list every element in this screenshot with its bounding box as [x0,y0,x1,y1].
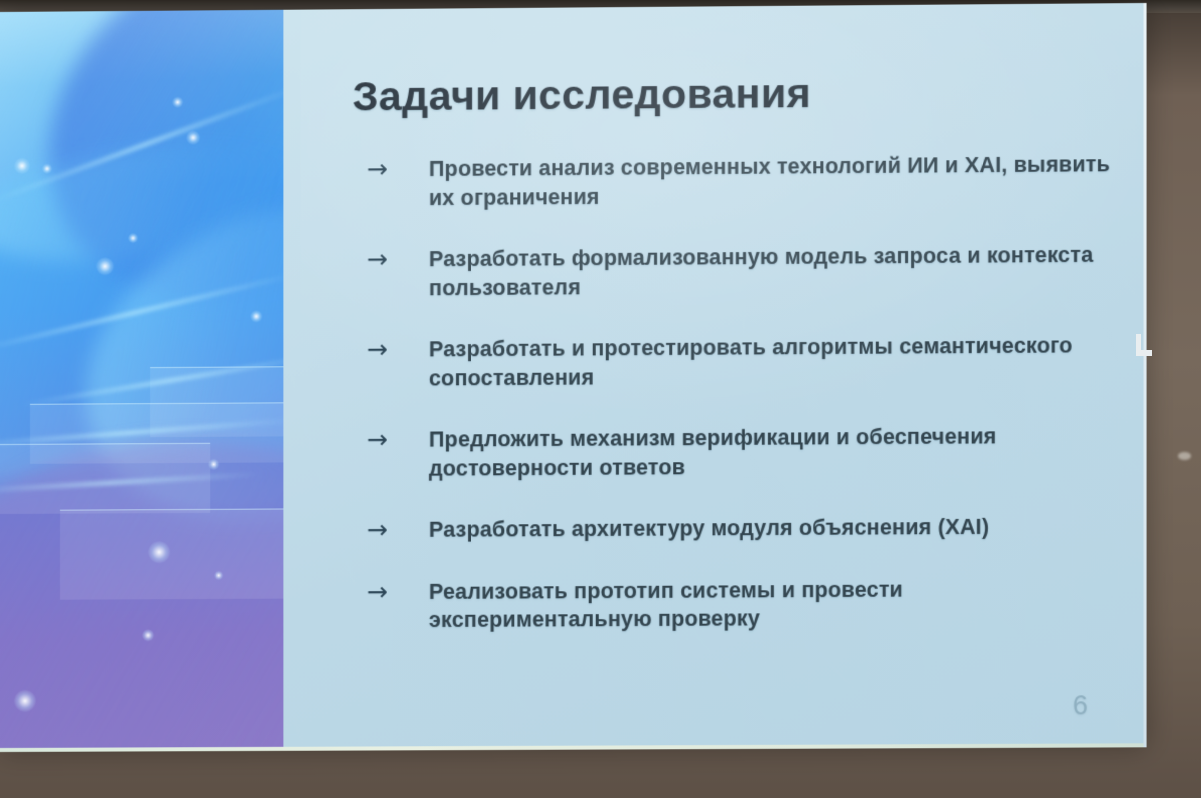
star-dot [186,131,200,145]
list-item-label: Провести анализ современных технологий И… [429,152,1110,209]
arrow-right-icon: → [367,156,388,182]
slide-page-number: 6 [1073,690,1088,721]
star-dot [14,690,36,712]
arrow-right-icon: → [367,579,388,605]
star-dot [14,158,30,174]
list-item-label: Разработать архитектуру модуля объяснени… [429,515,989,542]
step-shape [60,508,283,599]
slide-title: Задачи исследования [353,70,812,121]
star-dot [142,629,154,641]
star-dot [208,459,219,470]
list-item: → Провести анализ современных технологий… [367,150,1113,212]
list-item-label: Предложить механизм верификации и обеспе… [429,424,997,480]
arrow-right-icon: → [367,337,388,363]
arrow-right-icon: → [367,427,388,453]
objectives-list: → Провести анализ современных технологий… [367,150,1113,668]
list-item: → Реализовать прототип системы и провест… [367,574,1113,635]
star-dot [42,164,52,174]
list-item-label: Разработать формализованную модель запро… [429,243,1093,300]
projected-slide-photo: Задачи исследования → Провести анализ со… [0,0,1201,798]
star-dot [214,571,223,580]
star-dot [128,233,138,243]
list-item: → Разработать формализованную модель зап… [367,241,1113,303]
star-dot [172,97,183,108]
arrow-right-icon: → [367,517,388,543]
star-dot [148,541,170,563]
list-item-label: Разработать и протестировать алгоритмы с… [429,333,1073,390]
star-dot [250,310,262,322]
list-item: → Разработать архитектуру модуля объясне… [367,512,1113,544]
star-dot [96,257,114,275]
arrow-right-icon: → [367,246,388,272]
slide-right-edge [1144,3,1147,747]
list-item-label: Реализовать прототип системы и провести … [429,577,903,632]
presentation-slide: Задачи исследования → Провести анализ со… [0,3,1147,752]
wall-speck [1178,452,1191,460]
decorative-art-panel [0,10,283,752]
list-item: → Разработать и протестировать алгоритмы… [367,331,1113,393]
list-item: → Предложить механизм верификации и обес… [367,422,1113,483]
